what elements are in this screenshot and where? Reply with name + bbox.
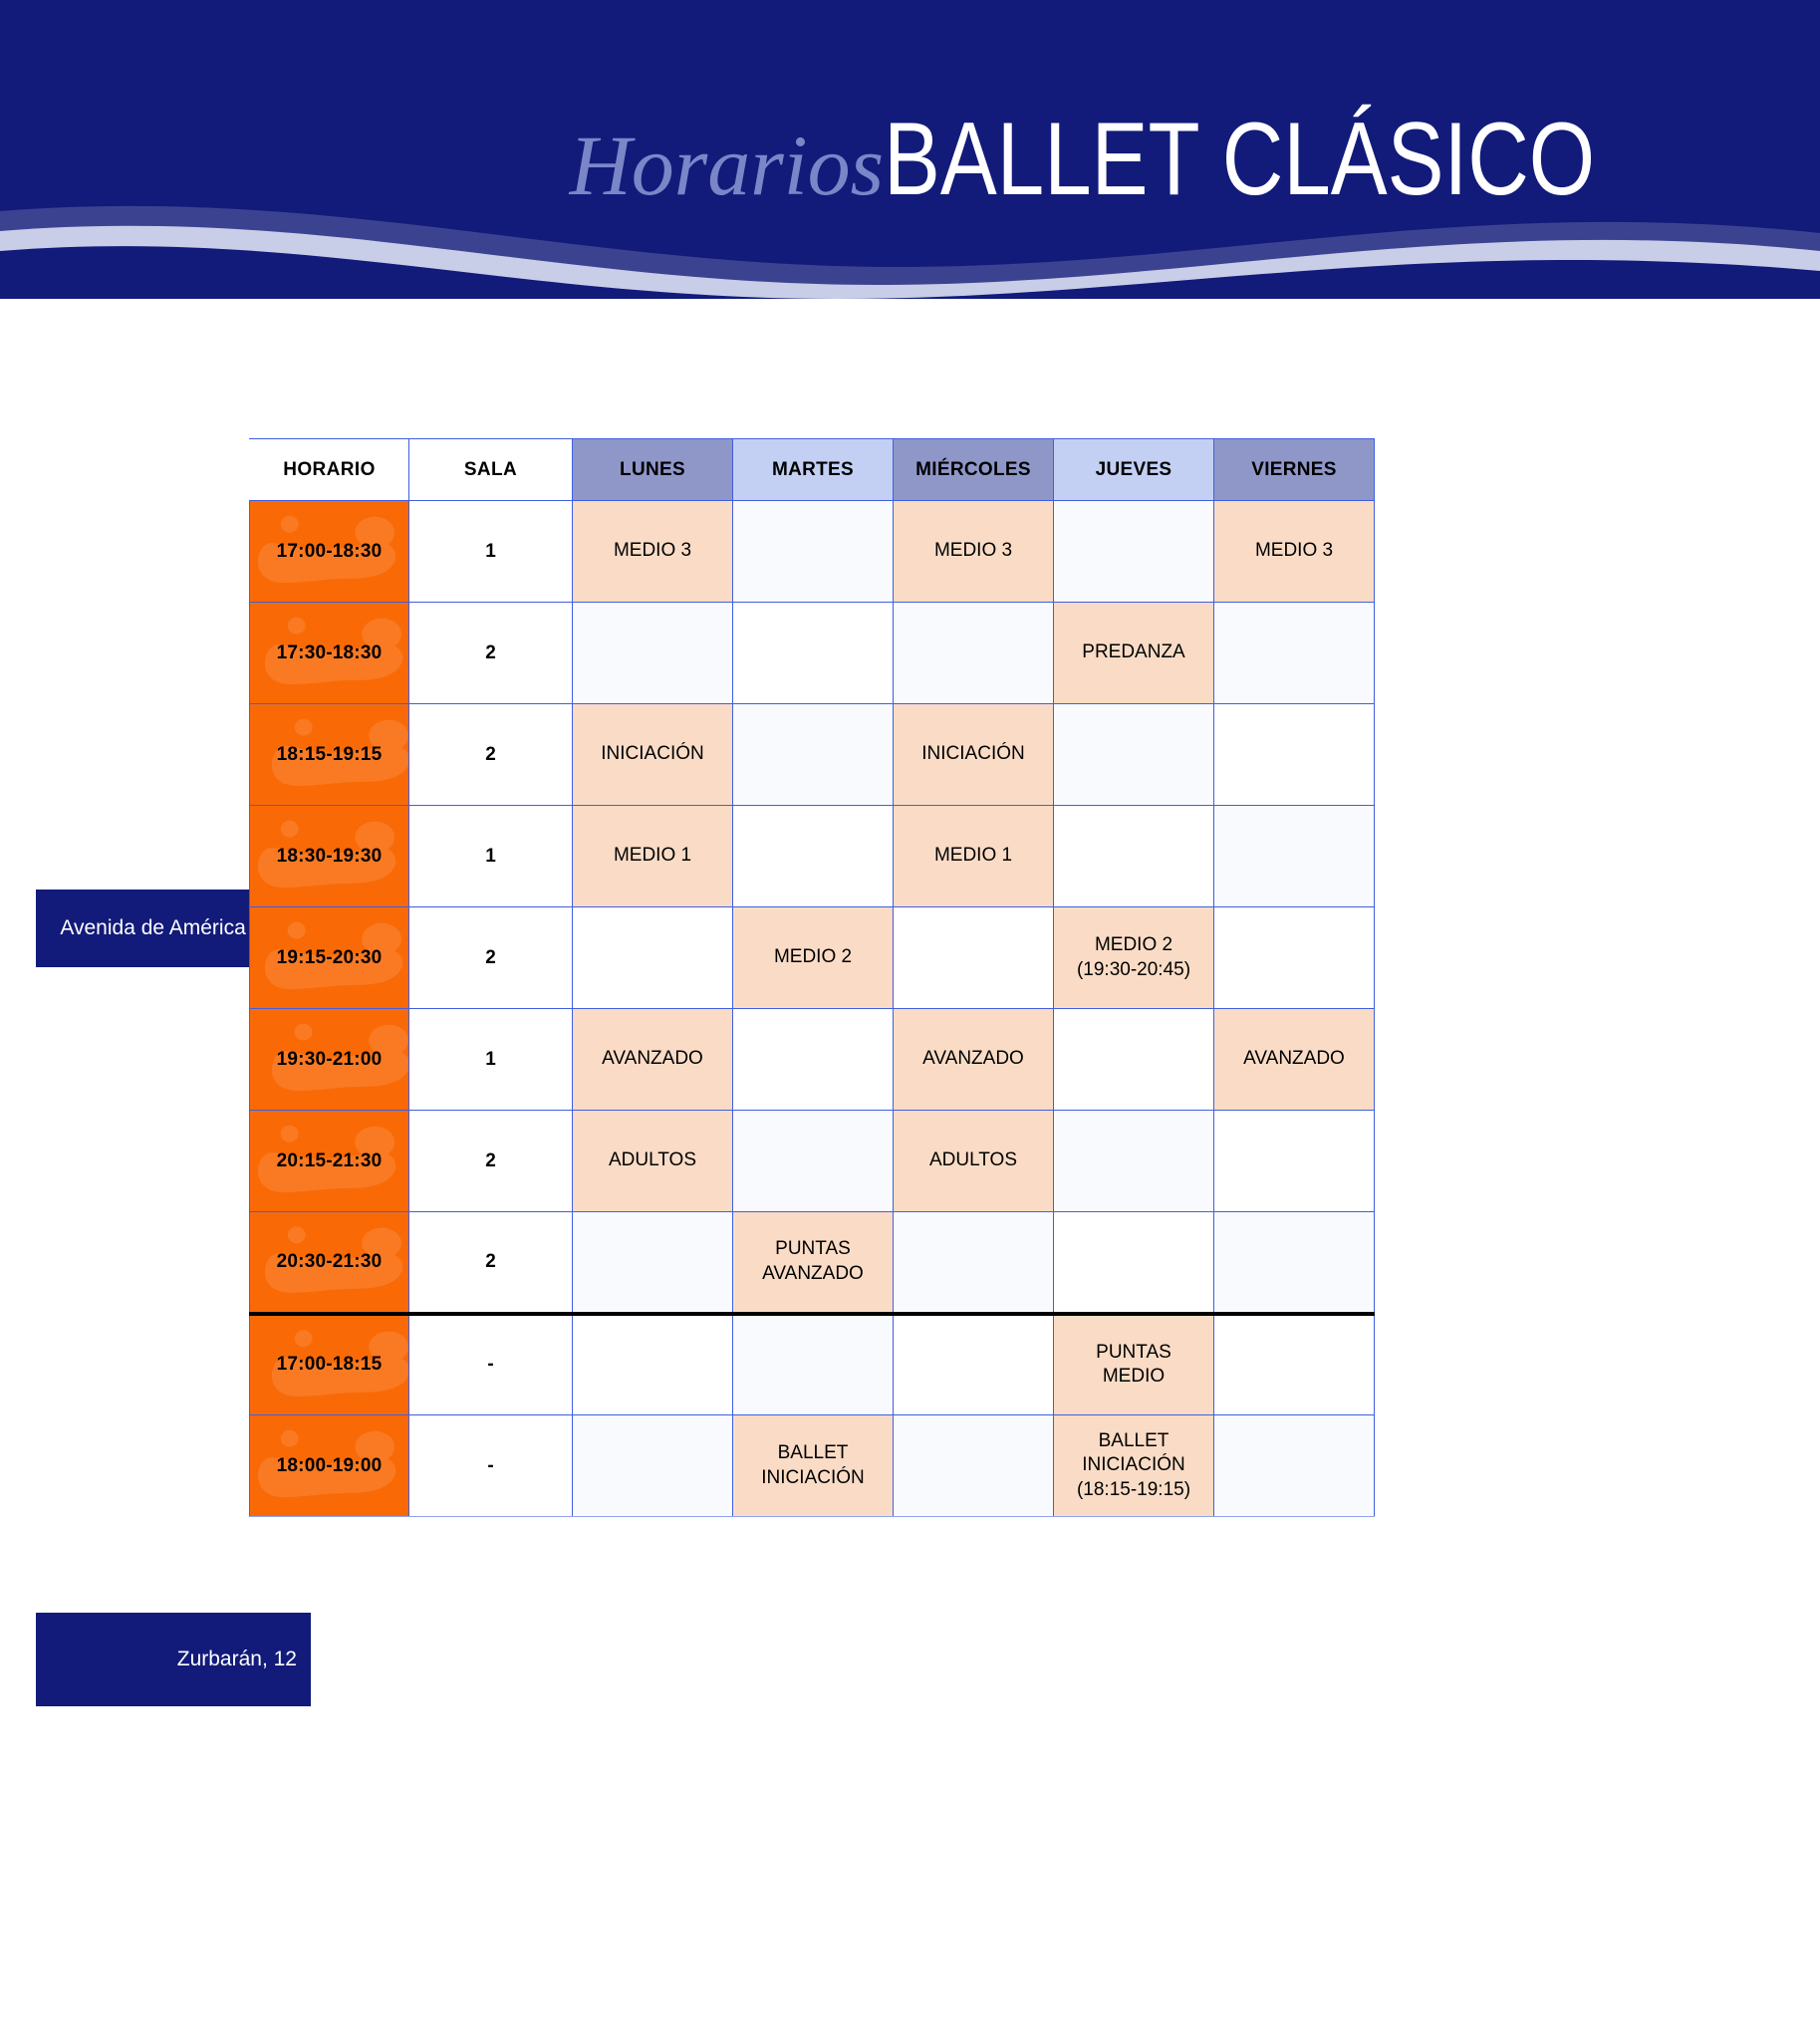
class-cell-martes[interactable]: PUNTASAVANZADO (733, 1212, 894, 1314)
empty-cell-jueves (1054, 704, 1214, 806)
row-time-slot: 17:30-18:30 (250, 603, 409, 704)
header-row: HORARIO SALA LUNES MARTES MIÉRCOLES JUEV… (250, 439, 1375, 501)
class-name-label: PUNTASMEDIO (1054, 1339, 1213, 1392)
row-room-number: 1 (409, 1009, 573, 1111)
empty-cell-martes (733, 1314, 894, 1415)
row-room-number: - (409, 1415, 573, 1517)
empty-cell-martes (733, 603, 894, 704)
schedule-row: 17:00-18:301MEDIO 3MEDIO 3MEDIO 3 (250, 501, 1375, 603)
row-room-number: 2 (409, 603, 573, 704)
empty-cell-lunes (573, 1314, 733, 1415)
column-header-sala: SALA (409, 439, 573, 501)
row-time-slot: 18:30-19:30 (250, 806, 409, 907)
time-label: 18:15-19:15 (277, 744, 383, 765)
location-badge-zurbaran: Zurbarán, 12 (36, 1613, 311, 1706)
schedule-row: 19:15-20:302MEDIO 2MEDIO 2(19:30-20:45) (250, 907, 1375, 1009)
class-cell-miercoles[interactable]: AVANZADO (894, 1009, 1054, 1111)
empty-cell-martes (733, 501, 894, 603)
empty-cell-viernes (1214, 1415, 1375, 1517)
schedule-table-body: 17:00-18:301MEDIO 3MEDIO 3MEDIO 317:30-1… (250, 501, 1375, 1517)
time-label: 18:30-19:30 (277, 846, 383, 867)
empty-cell-jueves (1054, 1009, 1214, 1111)
row-room-number: 1 (409, 806, 573, 907)
class-name-label: MEDIO 3 (573, 537, 732, 565)
class-name-label: BALLETINICIACIÓN (733, 1439, 893, 1492)
empty-cell-viernes (1214, 1314, 1375, 1415)
page-banner: HorariosBALLET CLÁSICO (0, 0, 1820, 369)
time-label: 18:00-19:00 (277, 1455, 383, 1476)
schedule-row: 19:30-21:001AVANZADOAVANZADOAVANZADO (250, 1009, 1375, 1111)
empty-cell-viernes (1214, 704, 1375, 806)
class-name-label: MEDIO 2 (733, 943, 893, 971)
class-cell-lunes[interactable]: MEDIO 1 (573, 806, 733, 907)
row-time-slot: 20:15-21:30 (250, 1111, 409, 1212)
class-cell-miercoles[interactable]: MEDIO 3 (894, 501, 1054, 603)
empty-cell-miercoles (894, 1212, 1054, 1314)
row-room-number: 2 (409, 1111, 573, 1212)
time-label: 17:00-18:30 (277, 541, 383, 562)
class-name-label: ADULTOS (573, 1147, 732, 1174)
class-cell-martes[interactable]: MEDIO 2 (733, 907, 894, 1009)
empty-cell-martes (733, 1111, 894, 1212)
class-name-label: MEDIO 1 (573, 842, 732, 870)
class-name-label: AVANZADO (894, 1045, 1053, 1073)
empty-cell-martes (733, 704, 894, 806)
class-name-label: MEDIO 1 (894, 842, 1053, 870)
class-cell-viernes[interactable]: MEDIO 3 (1214, 501, 1375, 603)
row-time-slot: 17:00-18:15 (250, 1314, 409, 1415)
title-script-word: Horarios (570, 118, 884, 213)
class-cell-lunes[interactable]: INICIACIÓN (573, 704, 733, 806)
schedule-table-wrapper: HORARIO SALA LUNES MARTES MIÉRCOLES JUEV… (249, 438, 1375, 1517)
empty-cell-miercoles (894, 1415, 1054, 1517)
row-room-number: 2 (409, 1212, 573, 1314)
location-label: Zurbarán, 12 (177, 1648, 297, 1671)
class-name-label: MEDIO 3 (894, 537, 1053, 565)
time-label: 17:00-18:15 (277, 1354, 383, 1375)
page-title: HorariosBALLET CLÁSICO (0, 108, 1751, 211)
class-name-label: INICIACIÓN (894, 740, 1053, 768)
empty-cell-viernes (1214, 806, 1375, 907)
class-cell-lunes[interactable]: ADULTOS (573, 1111, 733, 1212)
empty-cell-martes (733, 806, 894, 907)
class-cell-miercoles[interactable]: ADULTOS (894, 1111, 1054, 1212)
empty-cell-viernes (1214, 907, 1375, 1009)
column-header-miercoles: MIÉRCOLES (894, 439, 1054, 501)
empty-cell-jueves (1054, 501, 1214, 603)
class-cell-viernes[interactable]: AVANZADO (1214, 1009, 1375, 1111)
schedule-page: HorariosBALLET CLÁSICO Avenida de Améric… (0, 0, 1820, 2040)
schedule-row: 18:00-19:00-BALLETINICIACIÓNBALLETINICIA… (250, 1415, 1375, 1517)
class-name-label: BALLETINICIACIÓN(18:15-19:15) (1054, 1427, 1213, 1504)
time-label: 20:15-21:30 (277, 1150, 383, 1171)
empty-cell-lunes (573, 1415, 733, 1517)
row-room-number: 2 (409, 907, 573, 1009)
row-room-number: - (409, 1314, 573, 1415)
schedule-row: 20:15-21:302ADULTOSADULTOS (250, 1111, 1375, 1212)
class-name-label: PREDANZA (1054, 638, 1213, 666)
schedule-row: 18:15-19:152INICIACIÓNINICIACIÓN (250, 704, 1375, 806)
class-name-label: PUNTASAVANZADO (733, 1235, 893, 1288)
empty-cell-miercoles (894, 603, 1054, 704)
empty-cell-martes (733, 1009, 894, 1111)
empty-cell-lunes (573, 907, 733, 1009)
row-time-slot: 20:30-21:30 (250, 1212, 409, 1314)
empty-cell-lunes (573, 603, 733, 704)
row-time-slot: 18:15-19:15 (250, 704, 409, 806)
schedule-table: HORARIO SALA LUNES MARTES MIÉRCOLES JUEV… (249, 438, 1375, 1517)
row-room-number: 2 (409, 704, 573, 806)
class-cell-miercoles[interactable]: MEDIO 1 (894, 806, 1054, 907)
time-label: 19:30-21:00 (277, 1049, 383, 1070)
row-time-slot: 19:15-20:30 (250, 907, 409, 1009)
empty-cell-viernes (1214, 1212, 1375, 1314)
class-name-label: AVANZADO (573, 1045, 732, 1073)
time-label: 17:30-18:30 (277, 642, 383, 663)
title-main-word: BALLET CLÁSICO (884, 108, 1595, 211)
empty-cell-jueves (1054, 806, 1214, 907)
empty-cell-jueves (1054, 1111, 1214, 1212)
class-cell-lunes[interactable]: MEDIO 3 (573, 501, 733, 603)
schedule-row: 17:30-18:302PREDANZA (250, 603, 1375, 704)
row-time-slot: 18:00-19:00 (250, 1415, 409, 1517)
class-cell-jueves[interactable]: MEDIO 2(19:30-20:45) (1054, 907, 1214, 1009)
time-label: 20:30-21:30 (277, 1251, 383, 1272)
class-name-label: MEDIO 3 (1214, 537, 1374, 565)
class-cell-jueves[interactable]: BALLETINICIACIÓN(18:15-19:15) (1054, 1415, 1214, 1517)
schedule-row: 17:00-18:15-PUNTASMEDIO (250, 1314, 1375, 1415)
row-time-slot: 17:00-18:30 (250, 501, 409, 603)
empty-cell-viernes (1214, 603, 1375, 704)
schedule-table-head: HORARIO SALA LUNES MARTES MIÉRCOLES JUEV… (250, 439, 1375, 501)
class-cell-jueves[interactable]: PUNTASMEDIO (1054, 1314, 1214, 1415)
schedule-row: 20:30-21:302PUNTASAVANZADO (250, 1212, 1375, 1314)
empty-cell-lunes (573, 1212, 733, 1314)
class-name-label: MEDIO 2(19:30-20:45) (1054, 931, 1213, 984)
class-cell-lunes[interactable]: AVANZADO (573, 1009, 733, 1111)
class-name-label: ADULTOS (894, 1147, 1053, 1174)
empty-cell-miercoles (894, 907, 1054, 1009)
class-name-label: INICIACIÓN (573, 740, 732, 768)
empty-cell-viernes (1214, 1111, 1375, 1212)
column-header-martes: MARTES (733, 439, 894, 501)
column-header-jueves: JUEVES (1054, 439, 1214, 501)
empty-cell-jueves (1054, 1212, 1214, 1314)
row-time-slot: 19:30-21:00 (250, 1009, 409, 1111)
column-header-viernes: VIERNES (1214, 439, 1375, 501)
class-cell-jueves[interactable]: PREDANZA (1054, 603, 1214, 704)
class-name-label: AVANZADO (1214, 1045, 1374, 1073)
empty-cell-miercoles (894, 1314, 1054, 1415)
time-label: 19:15-20:30 (277, 947, 383, 968)
class-cell-miercoles[interactable]: INICIACIÓN (894, 704, 1054, 806)
row-room-number: 1 (409, 501, 573, 603)
column-header-horario: HORARIO (250, 439, 409, 501)
column-header-lunes: LUNES (573, 439, 733, 501)
schedule-row: 18:30-19:301MEDIO 1MEDIO 1 (250, 806, 1375, 907)
class-cell-martes[interactable]: BALLETINICIACIÓN (733, 1415, 894, 1517)
